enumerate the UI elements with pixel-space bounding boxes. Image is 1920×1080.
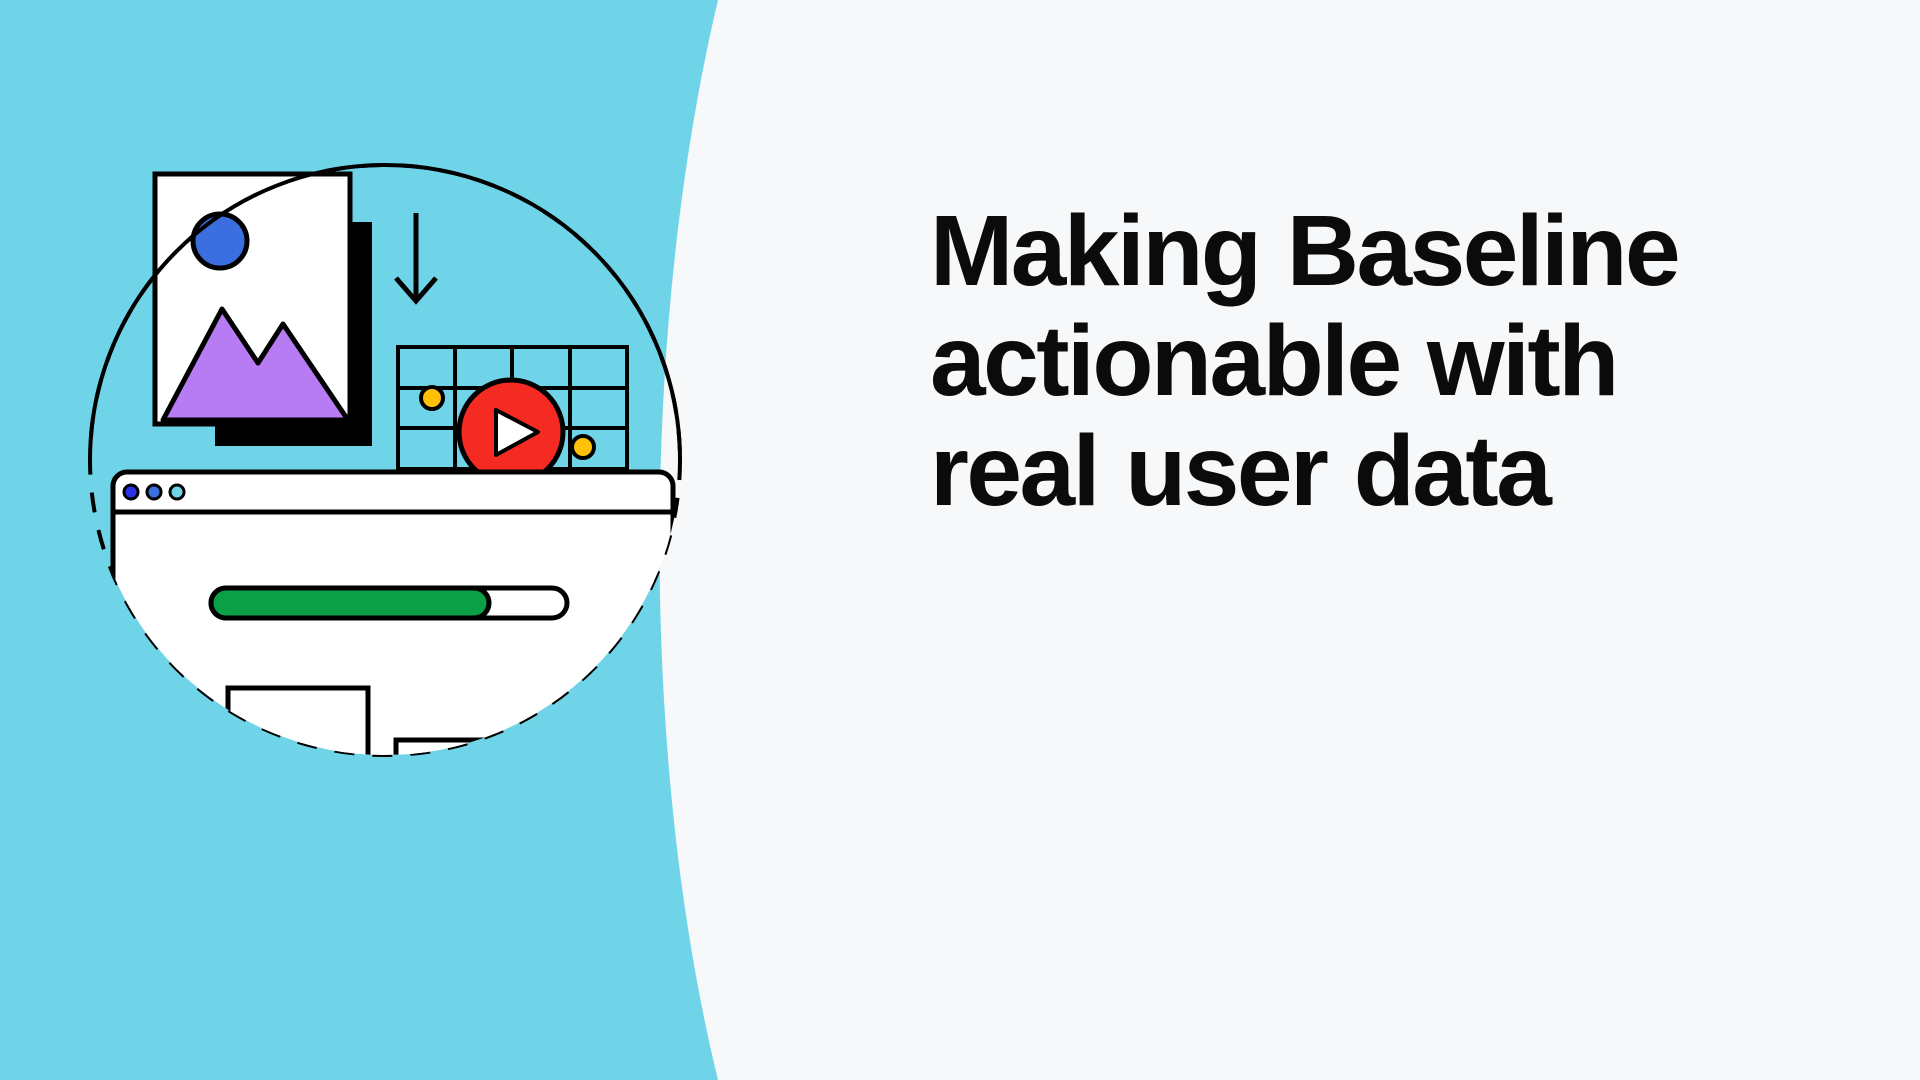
browser-window-body [113, 472, 673, 802]
play-button[interactable] [459, 380, 563, 484]
page-title: Making Baseline actionable with real use… [930, 196, 1770, 526]
grid-dot-icon [572, 436, 594, 458]
hero-illustration [0, 0, 900, 1080]
window-dot-icon[interactable] [170, 485, 184, 499]
content-block [396, 740, 536, 820]
image-placeholder-card [155, 174, 372, 446]
window-dot-icon[interactable] [124, 485, 138, 499]
window-dot-icon[interactable] [147, 485, 161, 499]
sun-circle-icon [193, 214, 247, 268]
heading-block: Making Baseline actionable with real use… [930, 196, 1770, 526]
browser-window [113, 472, 673, 820]
grid-dot-icon [421, 387, 443, 409]
progress-bar-fill [211, 588, 489, 618]
hero-banner: Making Baseline actionable with real use… [0, 0, 1920, 1080]
down-arrow-icon [396, 213, 436, 301]
content-block [228, 688, 368, 768]
